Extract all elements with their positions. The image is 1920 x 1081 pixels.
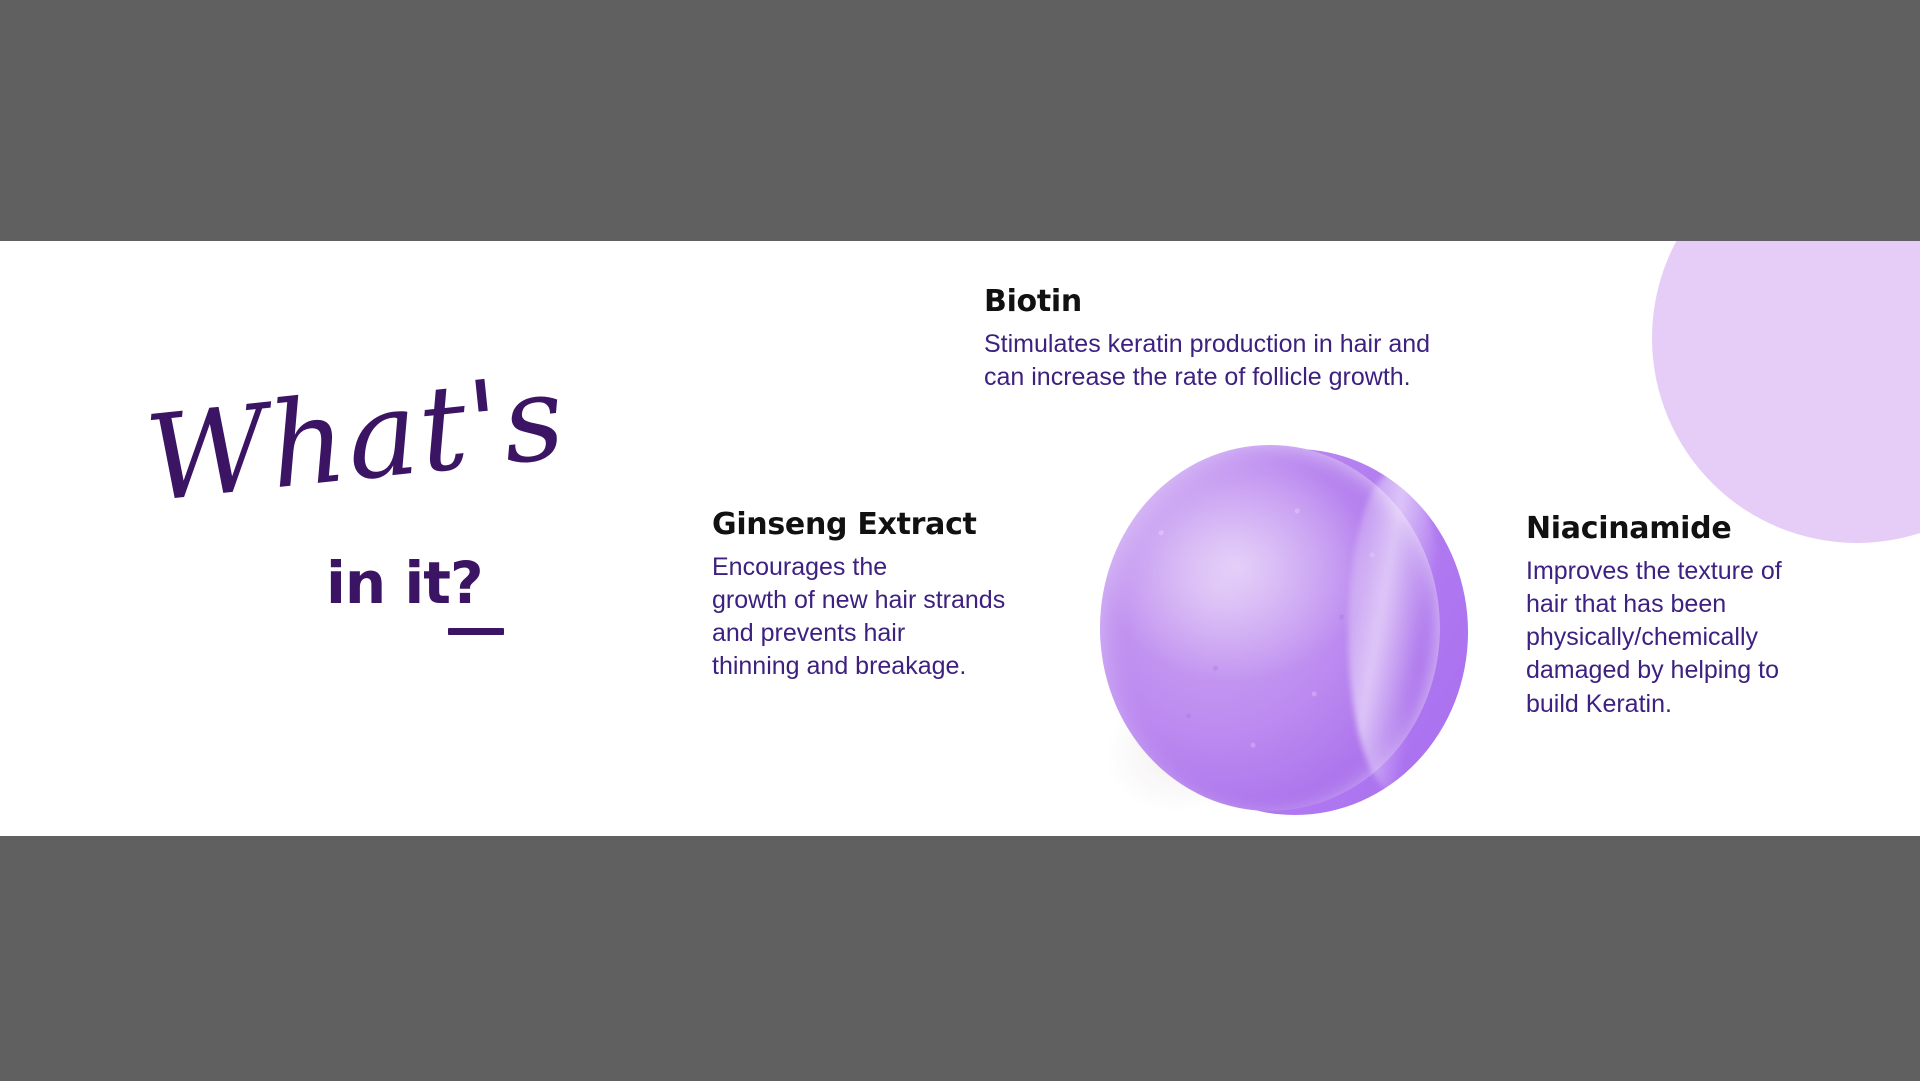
ingredient-description: Improves the texture of hair that has be… — [1526, 555, 1886, 721]
slide-content-area: What's in it? Biotin Stimulates keratin … — [0, 241, 1920, 836]
logo-underline-dash — [448, 628, 504, 635]
decorative-circle-icon — [1652, 241, 1920, 543]
ingredient-block-niacinamide: Niacinamide Improves the texture of hair… — [1526, 513, 1886, 721]
logo-bold-text: in it? — [326, 549, 483, 617]
letterbox-bottom — [0, 836, 1920, 1081]
ingredient-title: Ginseng Extract — [712, 509, 1102, 541]
ingredient-description: Encourages the growth of new hair strand… — [712, 551, 1102, 684]
slide-screen: What's in it? Biotin Stimulates keratin … — [0, 0, 1920, 1081]
ingredient-block-ginseng-extract: Ginseng Extract Encourages the growth of… — [712, 509, 1102, 684]
ingredient-block-biotin: Biotin Stimulates keratin production in … — [984, 286, 1584, 394]
ingredient-title: Biotin — [984, 286, 1584, 318]
logo-script-text: What's — [140, 347, 572, 528]
product-edge-highlight — [1348, 471, 1444, 793]
ingredient-title: Niacinamide — [1526, 513, 1886, 545]
ingredient-description: Stimulates keratin production in hair an… — [984, 328, 1584, 395]
whats-in-it-logo: What's in it? — [140, 391, 570, 641]
letterbox-top — [0, 0, 1920, 241]
shampoo-bar-product-image — [1100, 445, 1468, 819]
